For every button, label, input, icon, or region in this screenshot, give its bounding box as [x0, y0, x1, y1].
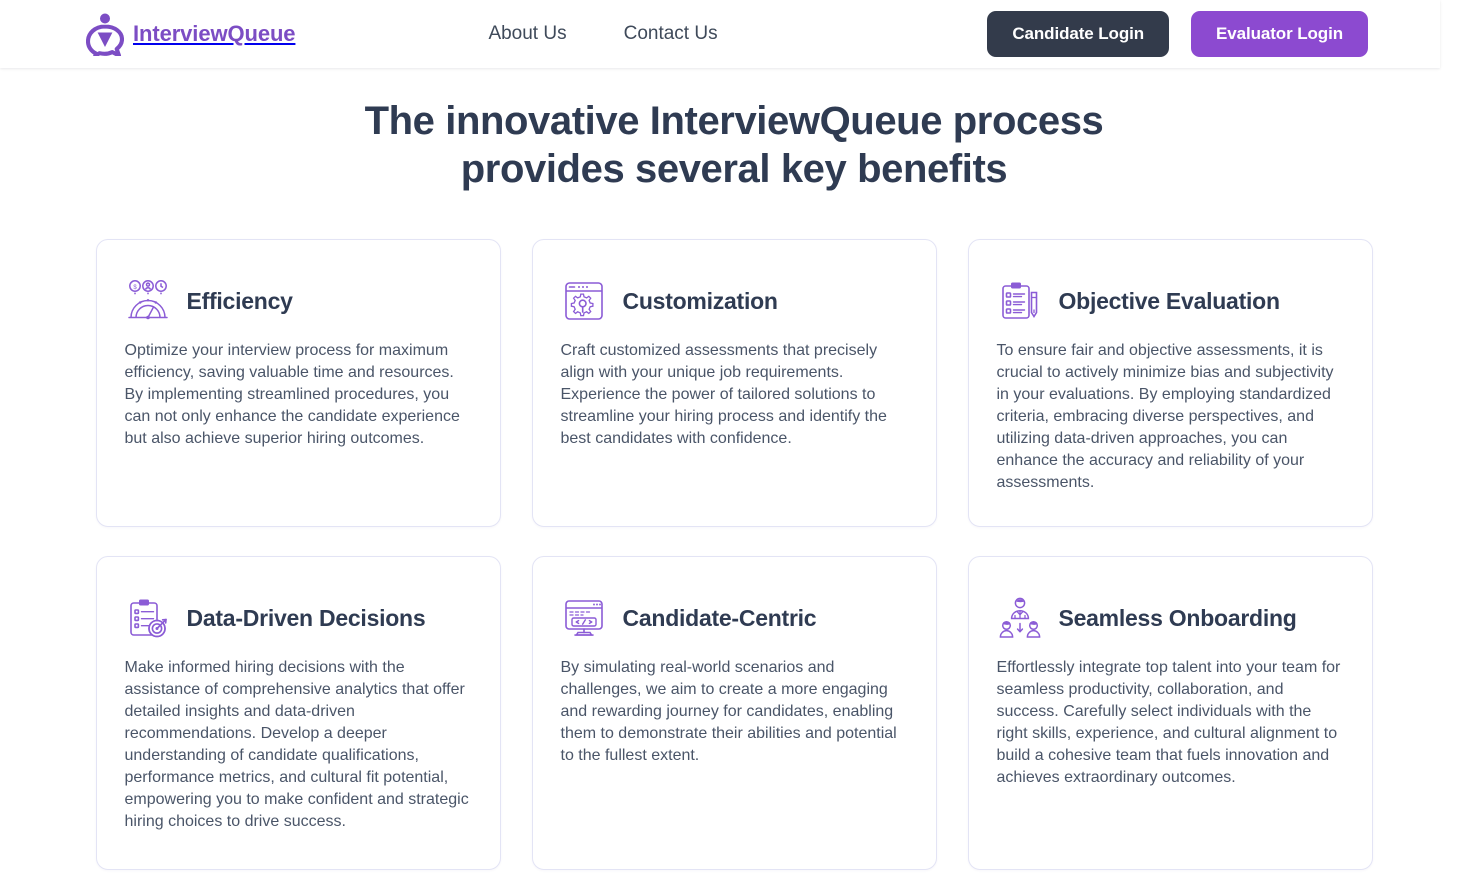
site-header: InterviewQueue About Us Contact Us Candi…	[0, 0, 1440, 68]
card-head: Data-Driven Decisions	[125, 595, 472, 641]
nav-link-about-us[interactable]: About Us	[488, 23, 566, 45]
monitor-code-icon	[561, 595, 607, 641]
card-body: To ensure fair and objective assessments…	[997, 340, 1344, 494]
card-body: Craft customized assessments that precis…	[561, 340, 908, 450]
card-body: Effortlessly integrate top talent into y…	[997, 657, 1344, 789]
main-nav: About Us Contact Us	[488, 23, 717, 45]
page-title: The innovative InterviewQueue process pr…	[284, 81, 1184, 193]
benefit-card-objective-evaluation[interactable]: Objective Evaluation To ensure fair and …	[968, 239, 1373, 527]
card-head: Candidate-Centric	[561, 595, 908, 641]
clipboard-checklist-pencil-icon	[997, 278, 1043, 324]
benefit-card-customization[interactable]: Customization Craft customized assessmen…	[532, 239, 937, 527]
benefit-card-efficiency[interactable]: $ Efficiency Optimize your interview pro…	[96, 239, 501, 527]
benefits-grid: $ Efficiency Optimize your interview pro…	[0, 239, 1468, 870]
benefit-card-candidate-centric[interactable]: Candidate-Centric By simulating real-wor…	[532, 556, 937, 870]
card-head: $ Efficiency	[125, 278, 472, 324]
interviewqueue-logo-icon	[86, 12, 124, 56]
card-title: Data-Driven Decisions	[187, 605, 426, 632]
brand-name: InterviewQueue	[133, 21, 295, 47]
browser-window-gear-icon	[561, 278, 607, 324]
brand-logo-link[interactable]: InterviewQueue	[86, 12, 295, 56]
speedometer-gauge-icon: $	[125, 278, 171, 324]
card-body: By simulating real-world scenarios and c…	[561, 657, 908, 767]
nav-link-contact-us[interactable]: Contact Us	[624, 23, 718, 45]
card-title: Candidate-Centric	[623, 605, 817, 632]
benefit-card-seamless-onboarding[interactable]: Seamless Onboarding Effortlessly integra…	[968, 556, 1373, 870]
card-title: Customization	[623, 288, 778, 315]
card-head: Customization	[561, 278, 908, 324]
clipboard-target-icon	[125, 595, 171, 641]
card-title: Objective Evaluation	[1059, 288, 1280, 315]
card-title: Efficiency	[187, 288, 293, 315]
card-body: Optimize your interview process for maxi…	[125, 340, 472, 450]
evaluator-login-button[interactable]: Evaluator Login	[1191, 11, 1368, 57]
candidate-login-button[interactable]: Candidate Login	[987, 11, 1169, 57]
card-head: Seamless Onboarding	[997, 595, 1344, 641]
header-actions: Candidate Login Evaluator Login	[987, 11, 1368, 57]
page-content: The innovative InterviewQueue process pr…	[0, 68, 1468, 870]
card-title: Seamless Onboarding	[1059, 605, 1297, 632]
card-head: Objective Evaluation	[997, 278, 1344, 324]
team-people-onboarding-icon	[997, 595, 1043, 641]
svg-text:$: $	[133, 285, 137, 291]
card-body: Make informed hiring decisions with the …	[125, 657, 472, 833]
benefit-card-data-driven-decisions[interactable]: Data-Driven Decisions Make informed hiri…	[96, 556, 501, 870]
